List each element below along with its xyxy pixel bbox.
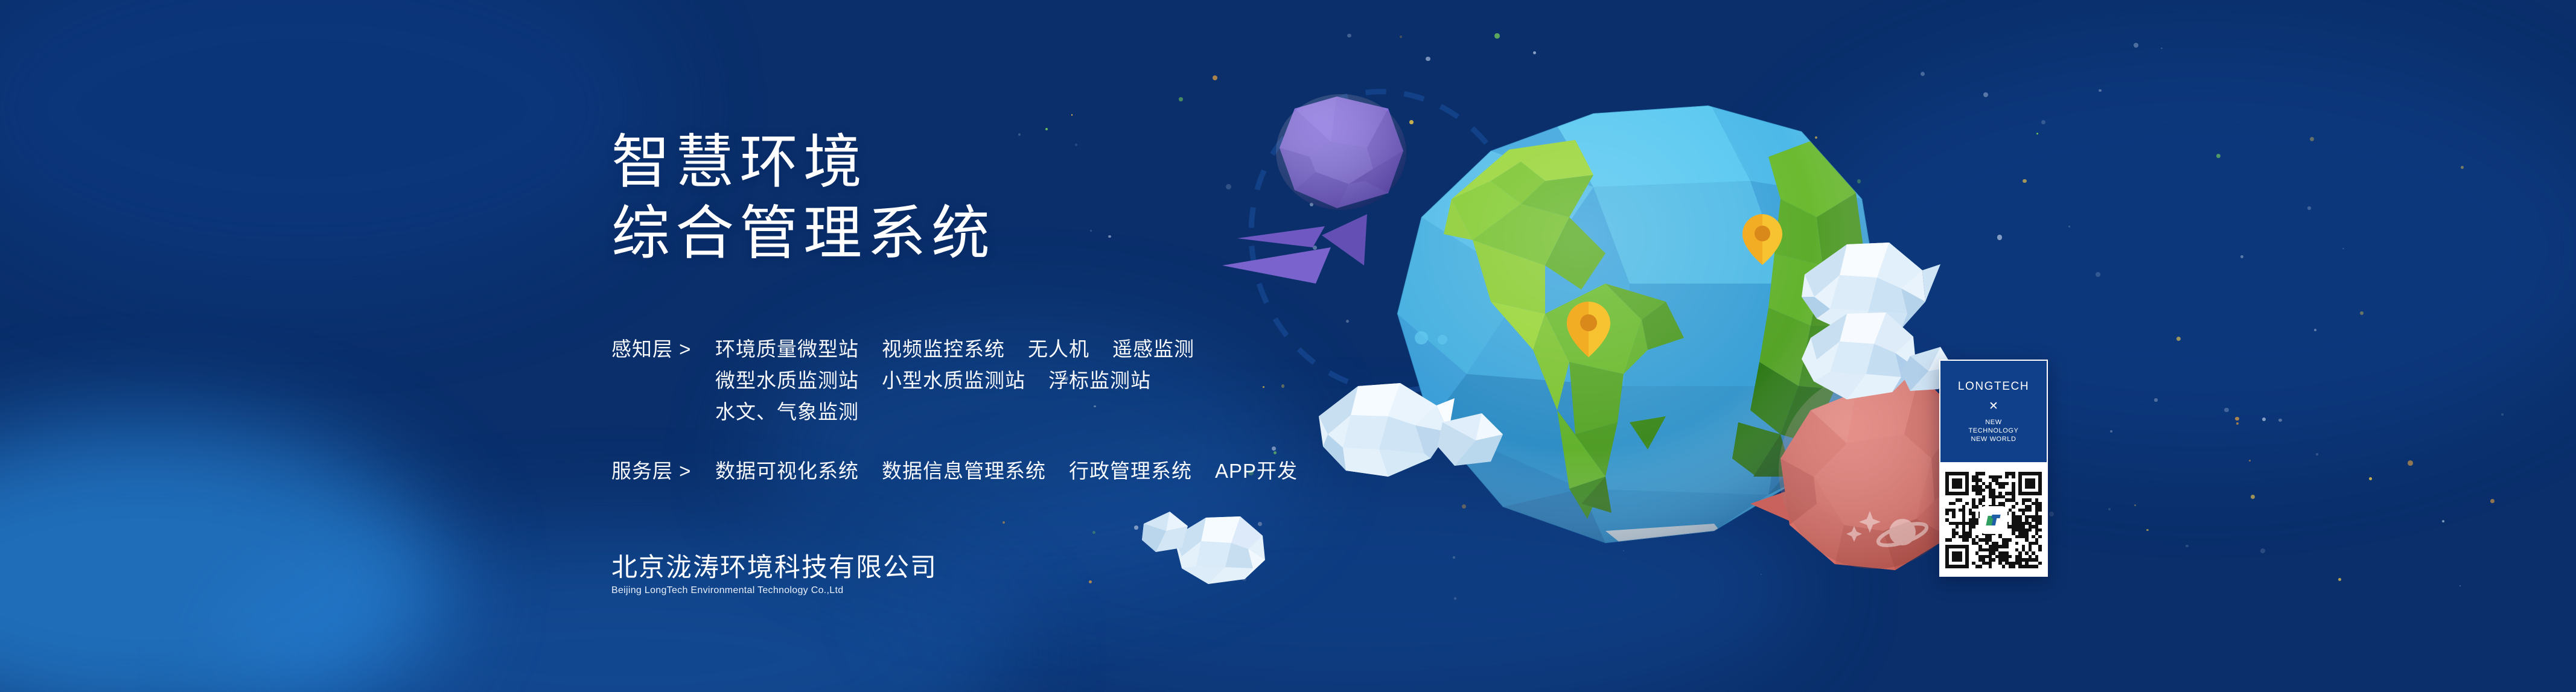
layer-items-perception: 环境质量微型站 视频监控系统 无人机 遥感监测 微型水质监测站 小型水质监测站 … [715, 334, 1194, 428]
company-name-cn: 北京泷涛环境科技有限公司 [611, 553, 937, 583]
company-signature: 北京泷涛环境科技有限公司 Beijing LongTech Environmen… [611, 553, 937, 597]
brand-name: LONGTECH [1958, 379, 2029, 394]
cloud-right-lower [1802, 313, 1953, 399]
qr-promo-card[interactable]: LONGTECH ✕ NEW TECHNOLOGY NEW WORLD [1939, 360, 2048, 577]
tagline-line-3: NEW WORLD [1968, 435, 2018, 443]
layer-item[interactable]: 数据信息管理系统 [882, 456, 1046, 487]
background-haze-top-right [1781, 36, 2576, 459]
cloud-right-upper [1802, 243, 1940, 337]
saturn-glyph [1846, 511, 1929, 550]
layer-item[interactable]: 视频监控系统 [882, 334, 1005, 365]
layer-label-perception[interactable]: 感知层 > [611, 334, 715, 365]
cross-icon: ✕ [1989, 398, 1998, 416]
tagline-line-2: TECHNOLOGY [1968, 427, 2018, 435]
map-pin-icon-africa [1742, 214, 1782, 265]
cloud-bottom-center [1142, 512, 1265, 584]
map-pin-icon-south-america [1567, 302, 1610, 357]
layer-item[interactable]: APP开发 [1215, 456, 1298, 487]
tagline: NEW TECHNOLOGY NEW WORLD [1968, 418, 2018, 443]
layer-row: 水文、气象监测 [715, 396, 1194, 428]
layer-group-perception: 感知层 > 环境质量微型站 视频监控系统 无人机 遥感监测 微型水质监测站 小型… [611, 334, 1456, 428]
layer-item[interactable]: 遥感监测 [1112, 334, 1194, 365]
qr-code-icon[interactable] [1945, 472, 2042, 568]
longtech-logo-mark [1987, 515, 2000, 525]
layer-items-service: 数据可视化系统 数据信息管理系统 行政管理系统 APP开发 [715, 456, 1298, 487]
red-planet [1750, 372, 1971, 570]
layer-label-service[interactable]: 服务层 > [611, 456, 715, 487]
qr-center-logo [1981, 507, 2006, 533]
layer-list: 感知层 > 环境质量微型站 视频监控系统 无人机 遥感监测 微型水质监测站 小型… [611, 334, 1456, 487]
background-glow-bottom-left [0, 422, 447, 692]
layer-row: 微型水质监测站 小型水质监测站 浮标监测站 [715, 365, 1194, 396]
hero-copy: 智慧环境 综合管理系统 感知层 > 环境质量微型站 视频监控系统 无人机 遥感监… [611, 127, 1456, 515]
layer-item[interactable]: 浮标监测站 [1048, 365, 1151, 396]
layer-item[interactable]: 数据可视化系统 [715, 456, 859, 487]
qr-code-body[interactable] [1939, 463, 2048, 577]
layer-item[interactable]: 小型水质监测站 [882, 365, 1025, 396]
background-haze-top-left [0, 0, 664, 290]
low-poly-globe [1397, 100, 1877, 561]
layer-item[interactable]: 环境质量微型站 [715, 334, 859, 365]
layer-row: 环境质量微型站 视频监控系统 无人机 遥感监测 [715, 334, 1194, 365]
hero-banner: 智慧环境 综合管理系统 感知层 > 环境质量微型站 视频监控系统 无人机 遥感监… [0, 0, 2576, 692]
layer-row: 数据可视化系统 数据信息管理系统 行政管理系统 APP开发 [715, 456, 1298, 487]
company-name-en: Beijing LongTech Environmental Technolog… [611, 584, 937, 597]
page-title-line-2: 综合管理系统 [611, 198, 1456, 269]
layer-item[interactable]: 无人机 [1028, 334, 1089, 365]
layer-item[interactable]: 行政管理系统 [1069, 456, 1192, 487]
qr-card-header: LONGTECH ✕ NEW TECHNOLOGY NEW WORLD [1939, 360, 2048, 463]
layer-item[interactable]: 微型水质监测站 [715, 365, 859, 396]
layer-group-service: 服务层 > 数据可视化系统 数据信息管理系统 行政管理系统 APP开发 [611, 456, 1456, 487]
layer-item[interactable]: 水文、气象监测 [715, 396, 859, 428]
page-title-line-1: 智慧环境 [611, 127, 1456, 198]
tagline-line-1: NEW [1968, 418, 2018, 427]
